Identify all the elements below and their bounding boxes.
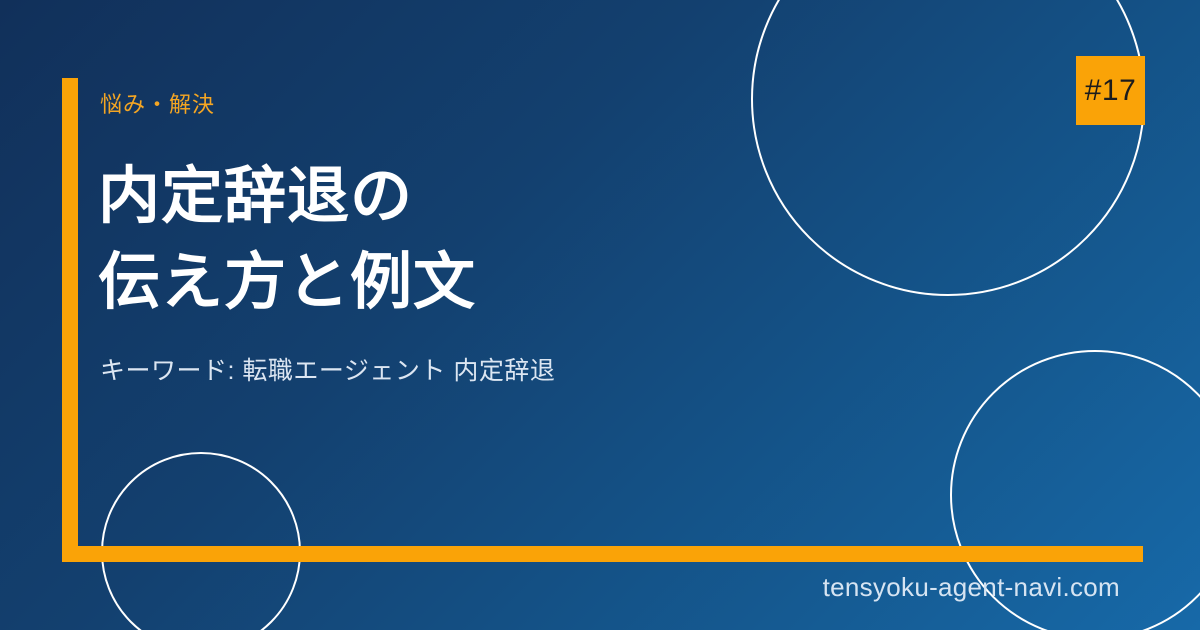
og-image-card: #17 悩み・解決 内定辞退の 伝え方と例文 キーワード: 転職エージェント 内… — [0, 0, 1200, 630]
number-badge: #17 — [1076, 56, 1145, 125]
page-title-line-1: 内定辞退の — [98, 154, 798, 240]
category-label: 悩み・解決 — [100, 94, 798, 116]
content-block: 悩み・解決 内定辞退の 伝え方と例文 キーワード: 転職エージェント 内定辞退 — [98, 80, 798, 386]
keyword-line: キーワード: 転職エージェント 内定辞退 — [100, 356, 798, 386]
decorative-circle-top-right-icon — [751, 0, 1145, 296]
footer-site-url: tensyoku-agent-navi.com — [823, 572, 1120, 603]
accent-bar-vertical — [62, 78, 78, 562]
page-title-line-2: 伝え方と例文 — [98, 240, 798, 326]
decorative-circle-bottom-left-icon — [101, 452, 301, 630]
accent-bar-bottom — [62, 546, 1143, 562]
page-title: 内定辞退の 伝え方と例文 — [98, 154, 798, 326]
